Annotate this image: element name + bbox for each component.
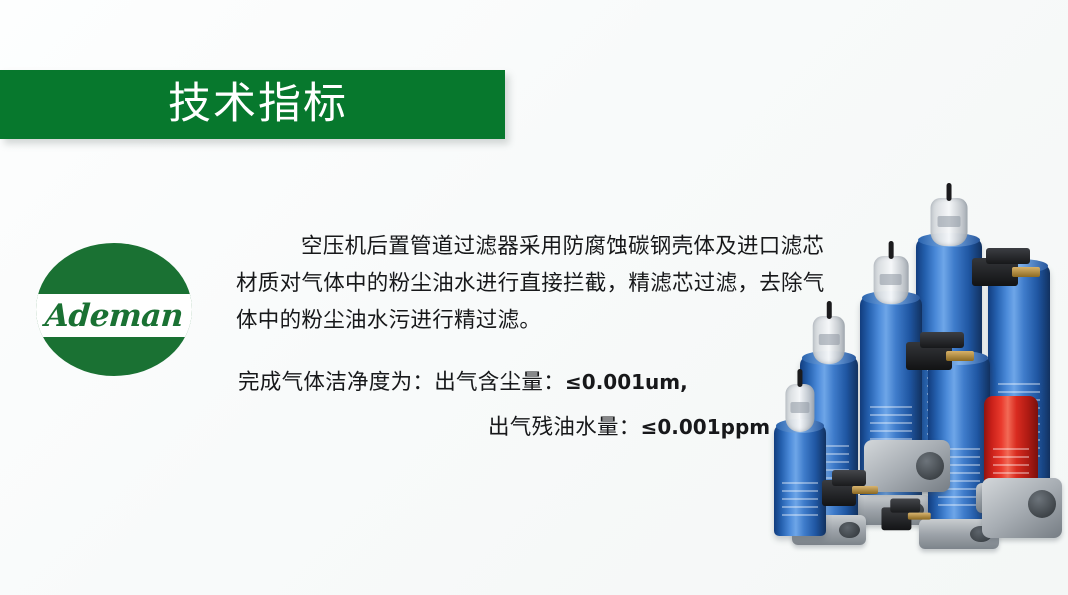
slide-canvas: 技术指标 Ademan 空压机后置管道过滤器采用防腐蚀碳钢壳体及进口滤芯 材质对… (0, 0, 1068, 595)
filter-unit-small-blue (774, 424, 826, 536)
logo-wordmark: Ademan (34, 294, 193, 338)
sight-bowl (874, 256, 909, 304)
valve-coil (920, 332, 964, 348)
brand-logo: Ademan (36, 243, 192, 376)
spec-value-dust: ≤0.001um, (565, 370, 688, 394)
product-photo (776, 178, 1068, 578)
filter-head-casting-front (982, 478, 1062, 538)
spec-label-dust: 出气含尘量： (434, 370, 565, 395)
spec-value-oil: ≤0.001ppm (641, 415, 771, 439)
valve-brass-fitting (1012, 267, 1040, 277)
coil-top (890, 499, 920, 513)
loose-solenoid-coil-small (881, 502, 932, 532)
loose-solenoid-coil-large (822, 474, 880, 508)
cartridge-label (993, 448, 1030, 482)
coil-brass-stem (908, 513, 931, 520)
sight-bowl (785, 384, 814, 432)
paragraph-line-3: 体中的粉尘油水污进行精过滤。 (236, 302, 856, 339)
page-title: 技术指标 (168, 72, 508, 136)
canister-body (774, 424, 826, 536)
canister-label (782, 482, 817, 520)
sight-bowl (813, 316, 845, 364)
solenoid-drain-valve (972, 258, 1046, 288)
valve-coil (986, 248, 1030, 264)
paragraph-line-1: 空压机后置管道过滤器采用防腐蚀碳钢壳体及进口滤芯 (236, 228, 856, 265)
body-paragraph: 空压机后置管道过滤器采用防腐蚀碳钢壳体及进口滤芯 材质对气体中的粉尘油水进行直接… (236, 228, 856, 339)
valve-brass-fitting (946, 351, 974, 361)
coil-top (832, 470, 866, 486)
solenoid-drain-valve (906, 342, 980, 372)
coil-brass-stem (852, 486, 878, 494)
spec-lead-in: 完成气体洁净度为： (238, 370, 434, 395)
paragraph-line-2: 材质对气体中的粉尘油水进行直接拦截，精滤芯过滤，去除气 (236, 265, 856, 302)
spec-label-oil: 出气残油水量： (488, 415, 641, 440)
sight-bowl (931, 198, 968, 246)
